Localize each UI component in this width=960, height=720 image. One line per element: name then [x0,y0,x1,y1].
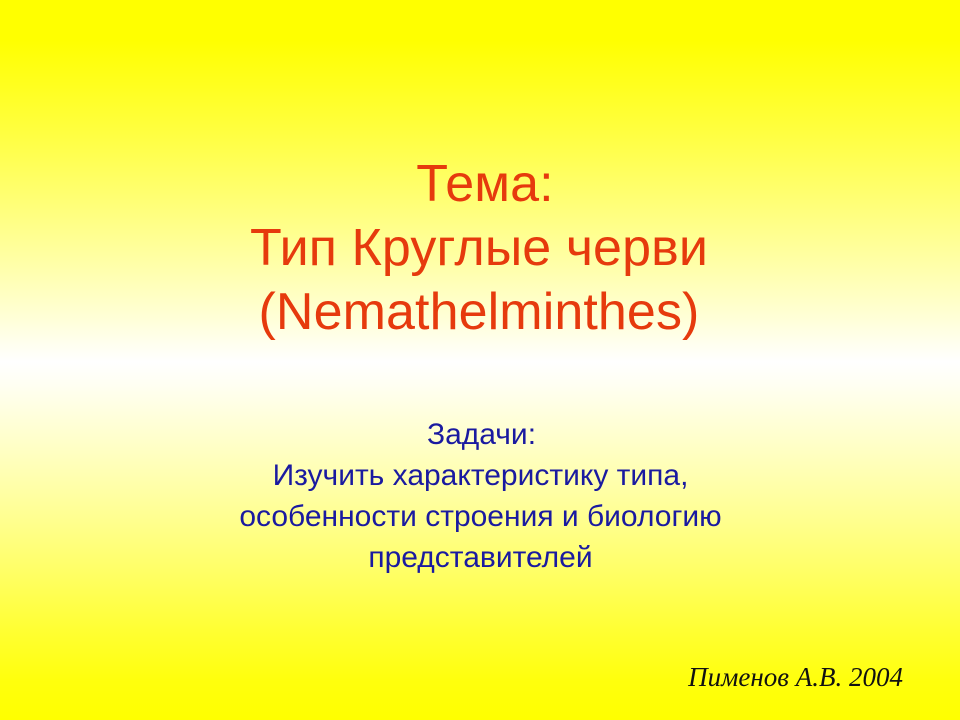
slide-title: Тема: Тип Круглые черви (Nemathelminthes… [0,152,960,344]
title-line-3: (Nemathelminthes) [0,280,960,344]
title-line-2: Тип Круглые черви [0,216,960,280]
subtitle-heading: Задачи: [3,414,960,455]
author-credit: Пименов А.В. 2004 [688,661,903,693]
subtitle-line-2: особенности строения и биологию [1,496,960,537]
subtitle-line-3: представителей [1,537,960,578]
subtitle-line-1: Изучить характеристику типа, [1,455,960,496]
presentation-slide: Тема: Тип Круглые черви (Nemathelminthes… [0,0,960,720]
title-line-1: Тема: [10,152,960,216]
slide-subtitle: Задачи: Изучить характеристику типа, осо… [0,414,960,578]
